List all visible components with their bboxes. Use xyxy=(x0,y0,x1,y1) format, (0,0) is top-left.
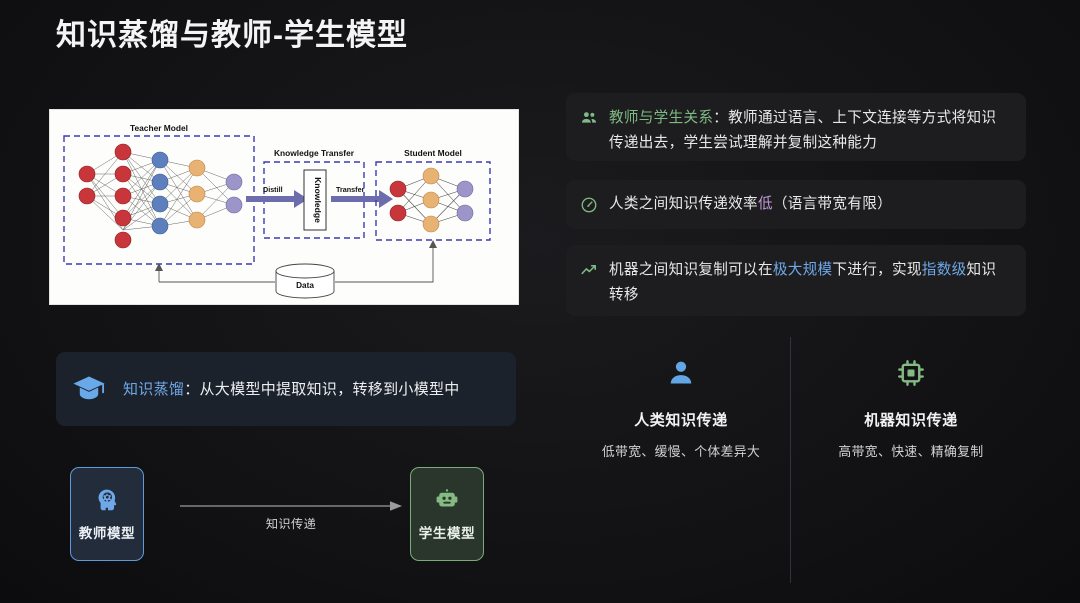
gauge-icon xyxy=(580,196,598,214)
figure-data-cylinder: Data xyxy=(276,264,334,298)
page-title: 知识蒸馏与教师-学生模型 xyxy=(56,14,408,58)
info-highlight: 教师与学生关系 xyxy=(609,110,713,126)
knowledge-transfer-arrow-label: 知识传递 xyxy=(180,514,402,532)
figure-data-label: Data xyxy=(296,281,314,290)
person-icon xyxy=(666,358,696,388)
teacher-model-node[interactable]: 教师模型 xyxy=(70,467,144,561)
comparison-column-human: 人类知识传递 低带宽、缓慢、个体差异大 xyxy=(566,352,796,582)
info-highlight: 低 xyxy=(758,196,773,212)
teacher-student-flow: 教师模型 知识传递 学生模型 xyxy=(56,462,526,580)
info-highlight-2: 指数级 xyxy=(922,262,967,278)
comparison-column-machine: 机器知识传递 高带宽、快速、精确复制 xyxy=(796,352,1026,582)
info-card-text: 机器之间知识复制可以在极大规模下进行，实现指数级知识转移 xyxy=(609,258,1010,307)
figure-transfer-label: Transfer xyxy=(336,185,365,194)
student-model-node[interactable]: 学生模型 xyxy=(410,467,484,561)
figure-knowledge-label: Knowledge xyxy=(313,177,323,223)
info-card-human-efficiency: 人类之间知识传递效率低（语言带宽有限） xyxy=(566,180,1026,229)
figure-teacher-caption: Teacher Model xyxy=(130,123,188,133)
teacher-model-label: 教师模型 xyxy=(79,522,135,542)
users-icon xyxy=(580,109,598,127)
info-highlight-1: 极大规模 xyxy=(773,262,833,278)
graduation-cap-icon xyxy=(72,372,106,406)
knowledge-distillation-text: 知识蒸馏：从大模型中提取知识，转移到小模型中 xyxy=(123,377,460,402)
figure-transfer-caption: Knowledge Transfer xyxy=(274,148,355,158)
slide-canvas: 知识蒸馏与教师-学生模型 Teacher Model xyxy=(0,0,1080,603)
figure-distill-label: Distill xyxy=(263,185,283,194)
info-body-tail: （语言带宽有限） xyxy=(773,196,892,212)
knowledge-distillation-card: 知识蒸馏：从大模型中提取知识，转移到小模型中 xyxy=(56,352,516,426)
figure-svg: Teacher Model xyxy=(50,110,518,304)
comparison-title-human: 人类知识传递 xyxy=(634,409,728,430)
info-body: 人类之间知识传递效率 xyxy=(609,196,758,212)
knowledge-transfer-arrow xyxy=(180,500,402,512)
robot-icon xyxy=(434,487,460,513)
info-card-text: 教师与学生关系：教师通过语言、上下文连接等方式将知识传递出去，学生尝试理解并复制… xyxy=(609,106,1010,155)
info-body-mid: 下进行，实现 xyxy=(832,262,921,278)
comparison-section: 人类知识传递 低带宽、缓慢、个体差异大 机器知识传递 高带宽、快速、精确复制 xyxy=(566,352,1026,582)
figure-student-caption: Student Model xyxy=(404,148,462,158)
comparison-subtitle-human: 低带宽、缓慢、个体差异大 xyxy=(602,441,760,460)
trending-up-icon xyxy=(580,261,598,279)
comparison-subtitle-machine: 高带宽、快速、精确复制 xyxy=(838,441,983,460)
info-card-teacher-student-relation: 教师与学生关系：教师通过语言、上下文连接等方式将知识传递出去，学生尝试理解并复制… xyxy=(566,93,1026,161)
kd-body: ：从大模型中提取知识，转移到小模型中 xyxy=(184,381,459,398)
knowledge-distillation-figure: Teacher Model xyxy=(50,110,518,304)
info-card-text: 人类之间知识传递效率低（语言带宽有限） xyxy=(609,192,892,217)
info-body: 机器之间知识复制可以在 xyxy=(609,262,773,278)
chip-icon xyxy=(896,358,926,388)
kd-highlight: 知识蒸馏 xyxy=(123,381,184,398)
comparison-title-machine: 机器知识传递 xyxy=(864,409,958,430)
info-card-machine-replication: 机器之间知识复制可以在极大规模下进行，实现指数级知识转移 xyxy=(566,245,1026,316)
head-gear-icon xyxy=(94,487,120,513)
student-model-label: 学生模型 xyxy=(419,522,475,542)
